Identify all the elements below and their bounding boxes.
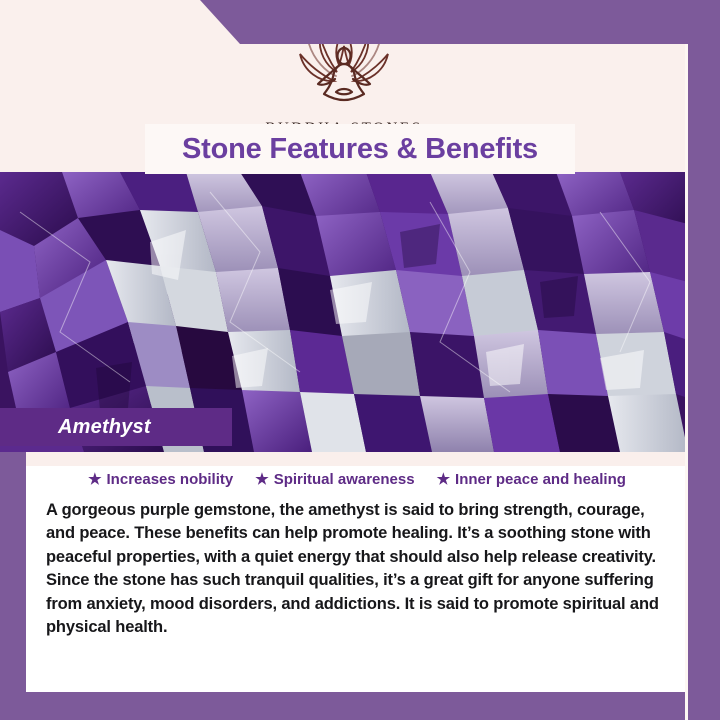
page-title-band: Stone Features & Benefits [145,124,575,174]
star-icon: ★ [255,472,268,487]
stone-name-bar: Amethyst [0,408,232,446]
frame-inner-hairline [685,44,688,720]
feature-label: Inner peace and healing [455,471,626,488]
frame-right-bar [688,0,720,720]
star-icon: ★ [437,472,450,487]
feature-item: ★ Increases nobility [88,471,233,488]
star-icon: ★ [88,472,101,487]
frame-bottom-bar [0,692,720,720]
content-card: ★ Increases nobility ★ Spiritual awarene… [26,452,688,692]
stone-name: Amethyst [0,416,151,439]
frame-left-bar [0,452,26,720]
content-top-fade [26,452,688,466]
page-title: Stone Features & Benefits [182,133,538,166]
feature-item: ★ Spiritual awareness [255,471,414,488]
stone-description: A gorgeous purple gemstone, the amethyst… [26,488,688,640]
feature-label: Spiritual awareness [274,471,415,488]
feature-item: ★ Inner peace and healing [437,471,626,488]
feature-label: Increases nobility [107,471,234,488]
